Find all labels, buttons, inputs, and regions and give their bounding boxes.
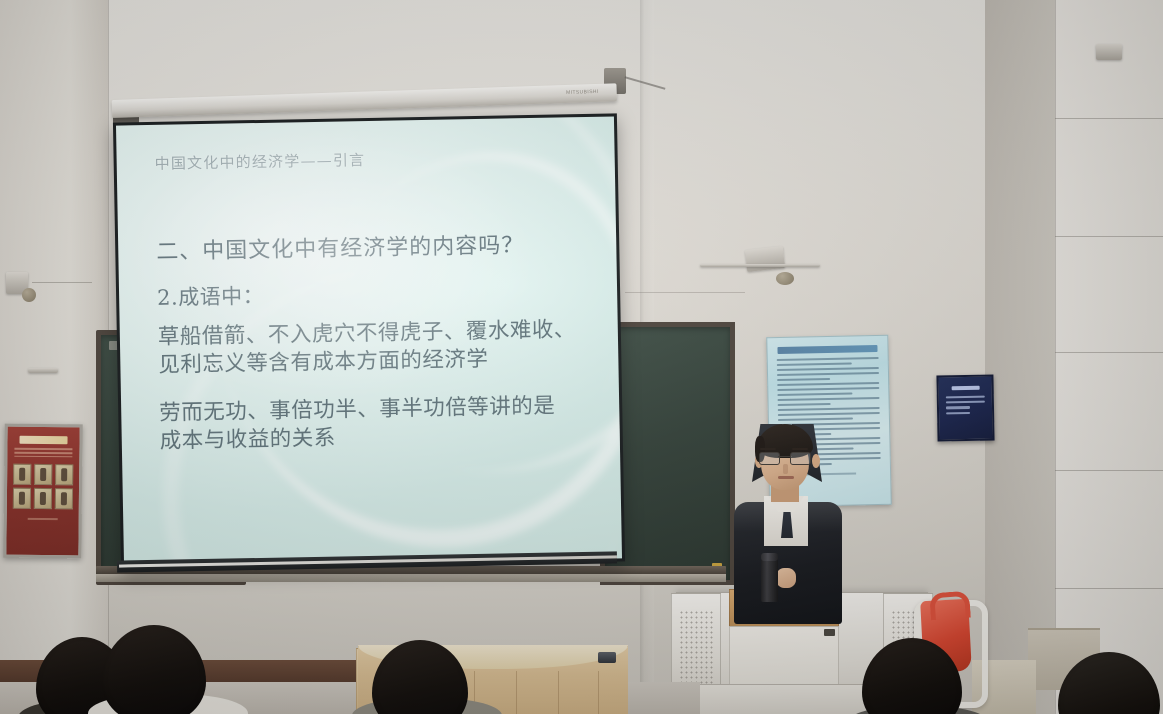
red-bag-strap <box>929 591 971 621</box>
wall-seam-right <box>1055 0 1056 714</box>
lecturer-nose <box>783 464 788 474</box>
wall-hook-lower-left <box>28 368 58 373</box>
wall-right-pilaster <box>985 0 1055 714</box>
screen-glare <box>116 116 622 567</box>
fire-poster-title <box>19 436 67 445</box>
lecturer-ear-right <box>812 454 820 468</box>
lectern-badge <box>824 629 835 636</box>
projection-screen: 中国文化中的经济学——引言 二、中国文化中有经济学的内容吗？ 2.成语中： 草船… <box>113 113 625 570</box>
blue-wall-plaque <box>936 375 994 442</box>
wall-rail-right <box>700 264 820 267</box>
screen-brand-logo: MITSUBISHI <box>566 89 599 96</box>
plaque-title-bar <box>951 386 979 390</box>
glasses-icon <box>759 452 811 464</box>
wall-knob-left <box>22 288 36 302</box>
fire-poster-footer <box>28 518 58 520</box>
wall-seam-horizontal <box>625 292 745 293</box>
fire-safety-poster <box>3 424 82 559</box>
chalk-ledge-lip <box>96 574 726 582</box>
poster-title-bar <box>777 345 877 354</box>
wall-far-right-panel <box>1055 0 1163 714</box>
wall-bracket-top-right <box>1096 44 1122 60</box>
thermos-cap <box>761 553 778 561</box>
thermos-bottle <box>761 558 778 602</box>
wall-left-pilaster <box>0 0 108 714</box>
lecture-hall-photo: MITSUBISHI 中国文化中的经济学——引言 二、中国文化中有经济学的内容吗… <box>0 0 1163 714</box>
lecturer <box>728 424 846 624</box>
wall-wire-left <box>32 282 92 283</box>
lectern-left-speaker-grille <box>679 610 713 688</box>
screen-surface: 中国文化中的经济学——引言 二、中国文化中有经济学的内容吗？ 2.成语中： 草船… <box>116 116 622 567</box>
wall-bracket-speaker-mount <box>745 246 785 272</box>
wall-speaker-cone <box>776 272 794 285</box>
desk-object <box>598 652 616 663</box>
fire-poster-steps <box>13 464 73 510</box>
lecturer-mouth <box>778 476 794 479</box>
lecturer-hand <box>776 568 796 588</box>
